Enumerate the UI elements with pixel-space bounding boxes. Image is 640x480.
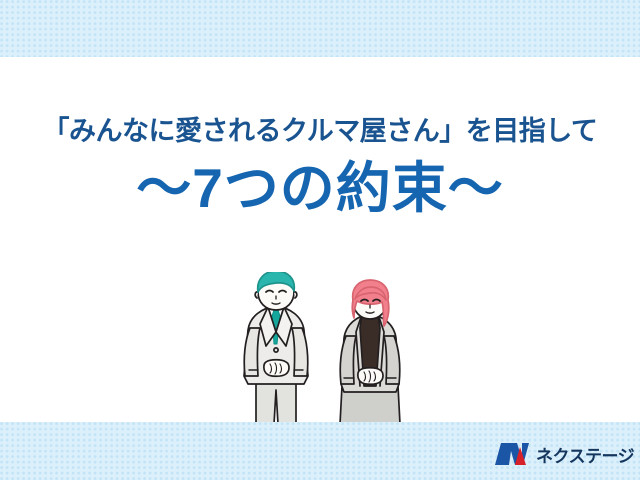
bowing-staff-illustration xyxy=(236,272,416,424)
promo-banner: 「みんなに愛されるクルマ屋さん」を目指して 〜7つの約束〜 xyxy=(0,0,640,480)
headline-block: 「みんなに愛されるクルマ屋さん」を目指して 〜7つの約束〜 xyxy=(0,118,640,216)
brand-logo: ネクステージ xyxy=(495,438,634,470)
headline-primary: 「みんなに愛されるクルマ屋さん」を目指して xyxy=(0,118,640,145)
brand-name-text: ネクステージ xyxy=(536,442,634,467)
male-staff-figure xyxy=(244,272,308,424)
top-dotted-band xyxy=(0,0,640,57)
nextage-n-mark xyxy=(495,441,529,467)
headline-secondary: 〜7つの約束〜 xyxy=(0,161,640,216)
female-staff-figure xyxy=(340,280,400,424)
